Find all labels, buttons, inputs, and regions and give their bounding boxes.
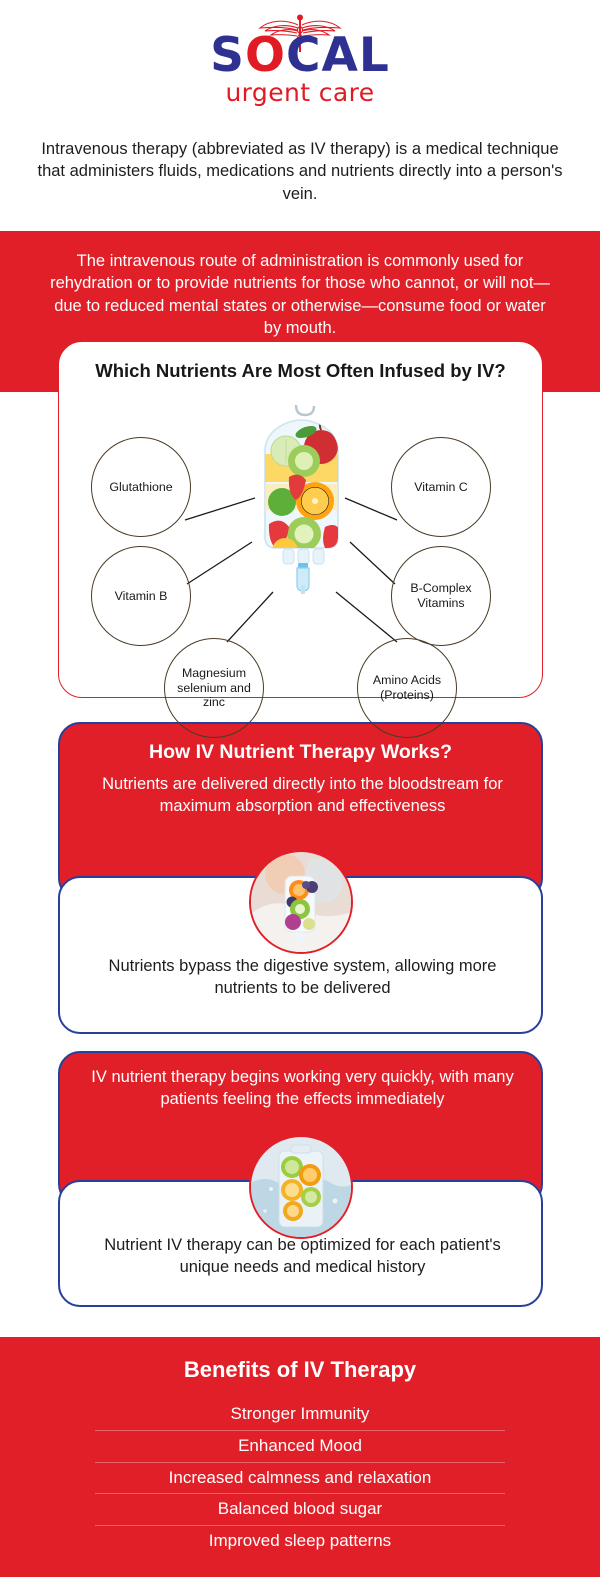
nutrient-bubble-label: Glutathione bbox=[109, 480, 172, 495]
logo-text-s: S bbox=[210, 28, 245, 83]
nurse-holding-fruit-iv-bag-photo bbox=[249, 850, 353, 954]
nutrient-bubble-label: Vitamin B bbox=[115, 589, 168, 604]
nutrient-bubble-vitamin-c[interactable]: Vitamin C bbox=[391, 437, 491, 537]
iv-bag-with-fruit-image bbox=[249, 399, 354, 594]
nutrients-title: Which Nutrients Are Most Often Infused b… bbox=[59, 359, 542, 383]
nutrient-bubble-label: Vitamin C bbox=[414, 480, 467, 495]
nutrient-bubble-label: B-Complex Vitamins bbox=[392, 581, 490, 610]
nutrients-card: Which Nutrients Are Most Often Infused b… bbox=[58, 341, 543, 698]
nutrient-bubble-glutathione[interactable]: Glutathione bbox=[91, 437, 191, 537]
how-it-works-title: How IV Nutrient Therapy Works? bbox=[60, 741, 541, 764]
benefit-item: Balanced blood sugar bbox=[95, 1493, 505, 1525]
benefit-item: Increased calmness and relaxation bbox=[95, 1462, 505, 1494]
nutrient-bubble-magnesium[interactable]: Magnesium selenium and zinc bbox=[164, 638, 264, 738]
intro-paragraph: Intravenous therapy (abbreviated as IV t… bbox=[30, 138, 570, 205]
nutrient-bubble-b-complex[interactable]: B-Complex Vitamins bbox=[391, 546, 491, 646]
nutrient-bubble-vitamin-b[interactable]: Vitamin B bbox=[91, 546, 191, 646]
benefit-item: Stronger Immunity bbox=[95, 1399, 505, 1430]
logo-text-cal: CAL bbox=[286, 28, 390, 83]
fast-acting-white-text: Nutrient IV therapy can be optimized for… bbox=[85, 1234, 520, 1279]
logo-wordmark: SOCAL bbox=[0, 34, 600, 79]
citrus-iv-bag-in-water-photo bbox=[249, 1135, 353, 1239]
benefits-section: Benefits of IV Therapy Stronger Immunity… bbox=[0, 1337, 600, 1577]
fast-acting-red-text: IV nutrient therapy begins working very … bbox=[80, 1067, 525, 1111]
infographic-page: SOCAL urgent care Intravenous therapy (a… bbox=[0, 0, 600, 1577]
benefit-item: Improved sleep patterns bbox=[95, 1525, 505, 1557]
benefits-title: Benefits of IV Therapy bbox=[0, 1357, 600, 1383]
benefits-list: Stronger Immunity Enhanced Mood Increase… bbox=[95, 1399, 505, 1557]
benefit-item: Enhanced Mood bbox=[95, 1430, 505, 1462]
nutrients-diagram: Glutathione Vitamin C Vitamin B B-Comple… bbox=[59, 392, 544, 697]
how-it-works-red-text: Nutrients are delivered directly into th… bbox=[80, 774, 525, 818]
nutrient-bubble-label: Magnesium selenium and zinc bbox=[165, 666, 263, 710]
nutrient-bubble-label: Amino Acids (Proteins) bbox=[358, 673, 456, 702]
red-banner-text: The intravenous route of administration … bbox=[45, 250, 555, 340]
brand-logo: SOCAL urgent care bbox=[0, 14, 600, 107]
how-it-works-white-text: Nutrients bypass the digestive system, a… bbox=[85, 955, 520, 1000]
logo-text-o: O bbox=[245, 28, 286, 83]
nutrient-bubble-amino-acids[interactable]: Amino Acids (Proteins) bbox=[357, 638, 457, 738]
